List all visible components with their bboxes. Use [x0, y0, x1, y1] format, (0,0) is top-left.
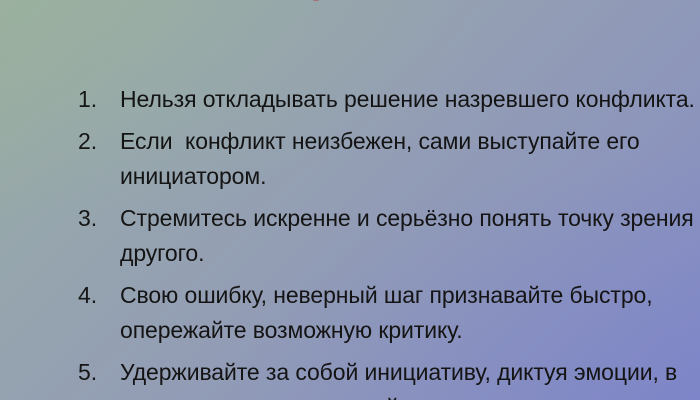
slide-title: конфликтов	[0, 0, 700, 2]
list-item-number: 5.	[70, 355, 120, 390]
numbered-list: 1. Нельзя откладывать решение назревшего…	[30, 82, 700, 400]
list-item-number: 3.	[70, 201, 120, 236]
list-item-text: Стремитесь искренне и серьёзно понять то…	[120, 201, 700, 271]
list-item-text: Если конфликт неизбежен, сами выступайте…	[120, 124, 700, 194]
list-item: 5. Удерживайте за собой инициативу, дикт…	[70, 355, 700, 400]
list-item: 1. Нельзя откладывать решение назревшего…	[70, 82, 700, 117]
list-item: 3. Стремитесь искренне и серьёзно понять…	[70, 201, 700, 271]
list-item-text: Нельзя откладывать решение назревшего ко…	[120, 82, 700, 117]
slide-canvas: конфликтов 1. Нельзя откладывать решение…	[0, 0, 700, 400]
slide-content: конфликтов 1. Нельзя откладывать решение…	[0, 0, 700, 400]
list-item: 2. Если конфликт неизбежен, сами выступа…	[70, 124, 700, 194]
list-item: 4. Свою ошибку, неверный шаг признавайте…	[70, 278, 700, 348]
list-item-text: Свою ошибку, неверный шаг признавайте бы…	[120, 278, 700, 348]
list-item-number: 1.	[70, 82, 120, 117]
list-item-number: 4.	[70, 278, 120, 313]
list-item-number: 2.	[70, 124, 120, 159]
list-item-text: Удерживайте за собой инициативу, диктуя …	[120, 355, 700, 400]
